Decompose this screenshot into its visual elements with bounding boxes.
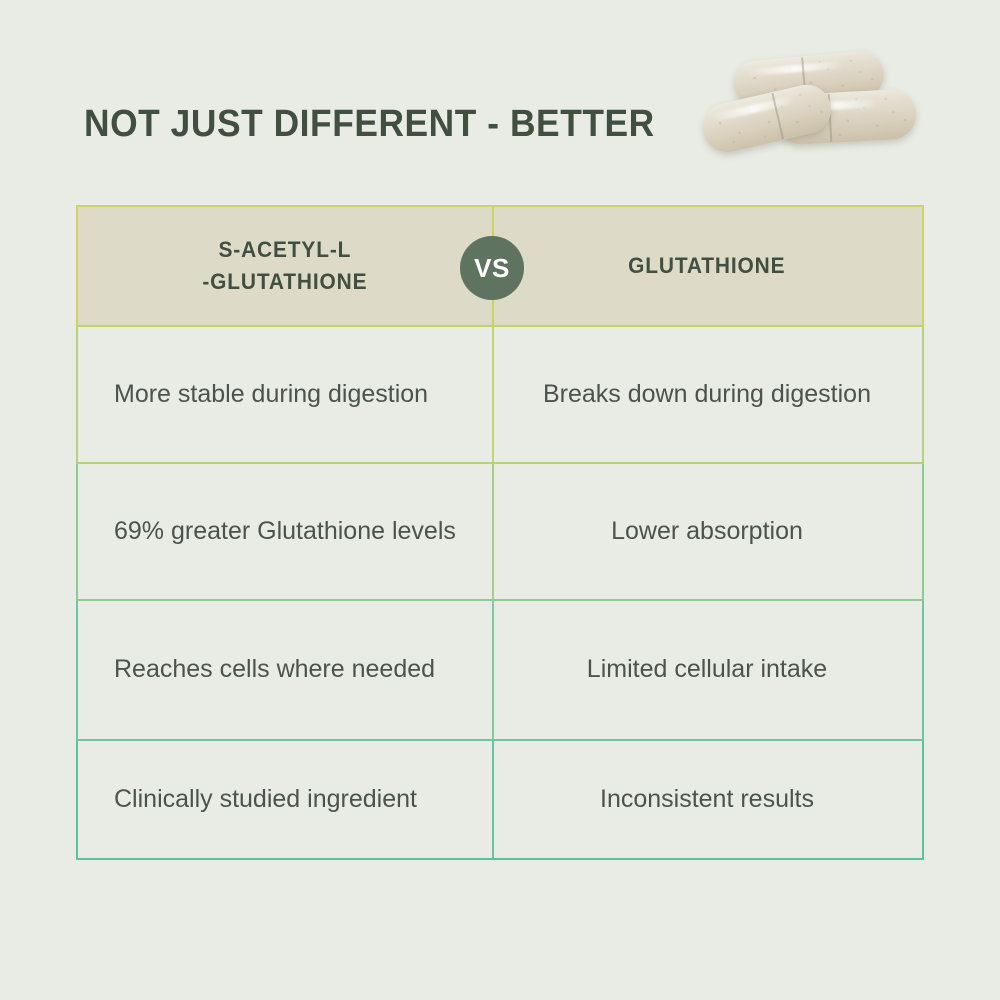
drawback-text: Breaks down during digestion: [543, 377, 871, 413]
benefit-text: More stable during digestion: [114, 377, 428, 413]
vs-badge-label: VS: [474, 253, 510, 284]
table-row: Clinically studied ingredient Inconsiste…: [76, 741, 924, 860]
table-header-cell-left: S-ACETYL-L -GLUTATHIONE: [78, 207, 492, 325]
table-cell-left: 69% greater Glutathione levels: [78, 464, 492, 599]
drawback-text: Limited cellular intake: [587, 652, 827, 688]
table-cell-right: Breaks down during digestion: [492, 327, 922, 462]
table-row: More stable during digestion Breaks down…: [76, 327, 924, 464]
vs-badge: VS: [460, 236, 524, 300]
table-header-cell-right: GLUTATHIONE: [492, 207, 922, 325]
column-header-line-1: S-ACETYL-L: [219, 237, 352, 262]
table-row: Reaches cells where needed Limited cellu…: [76, 601, 924, 741]
column-header-s-acetyl-l-glutathione: S-ACETYL-L -GLUTATHIONE: [202, 234, 367, 298]
comparison-table: S-ACETYL-L -GLUTATHIONE GLUTATHIONE VS M…: [76, 205, 924, 860]
drawback-text: Inconsistent results: [600, 782, 814, 818]
column-header-line-2: -GLUTATHIONE: [202, 269, 367, 294]
benefit-text: 69% greater Glutathione levels: [114, 514, 456, 550]
benefit-text: Clinically studied ingredient: [114, 782, 417, 818]
table-cell-right: Lower absorption: [492, 464, 922, 599]
drawback-text: Lower absorption: [611, 514, 803, 550]
table-row: 69% greater Glutathione levels Lower abs…: [76, 464, 924, 601]
table-header-row: S-ACETYL-L -GLUTATHIONE GLUTATHIONE VS: [76, 205, 924, 327]
table-cell-left: Reaches cells where needed: [78, 601, 492, 739]
table-cell-right: Inconsistent results: [492, 741, 922, 858]
benefit-text: Reaches cells where needed: [114, 652, 435, 688]
capsules-illustration: [700, 52, 920, 177]
table-cell-left: Clinically studied ingredient: [78, 741, 492, 858]
table-cell-left: More stable during digestion: [78, 327, 492, 462]
column-header-glutathione: GLUTATHIONE: [628, 250, 785, 282]
table-cell-right: Limited cellular intake: [492, 601, 922, 739]
page-title: NOT JUST DIFFERENT - BETTER: [84, 103, 655, 146]
